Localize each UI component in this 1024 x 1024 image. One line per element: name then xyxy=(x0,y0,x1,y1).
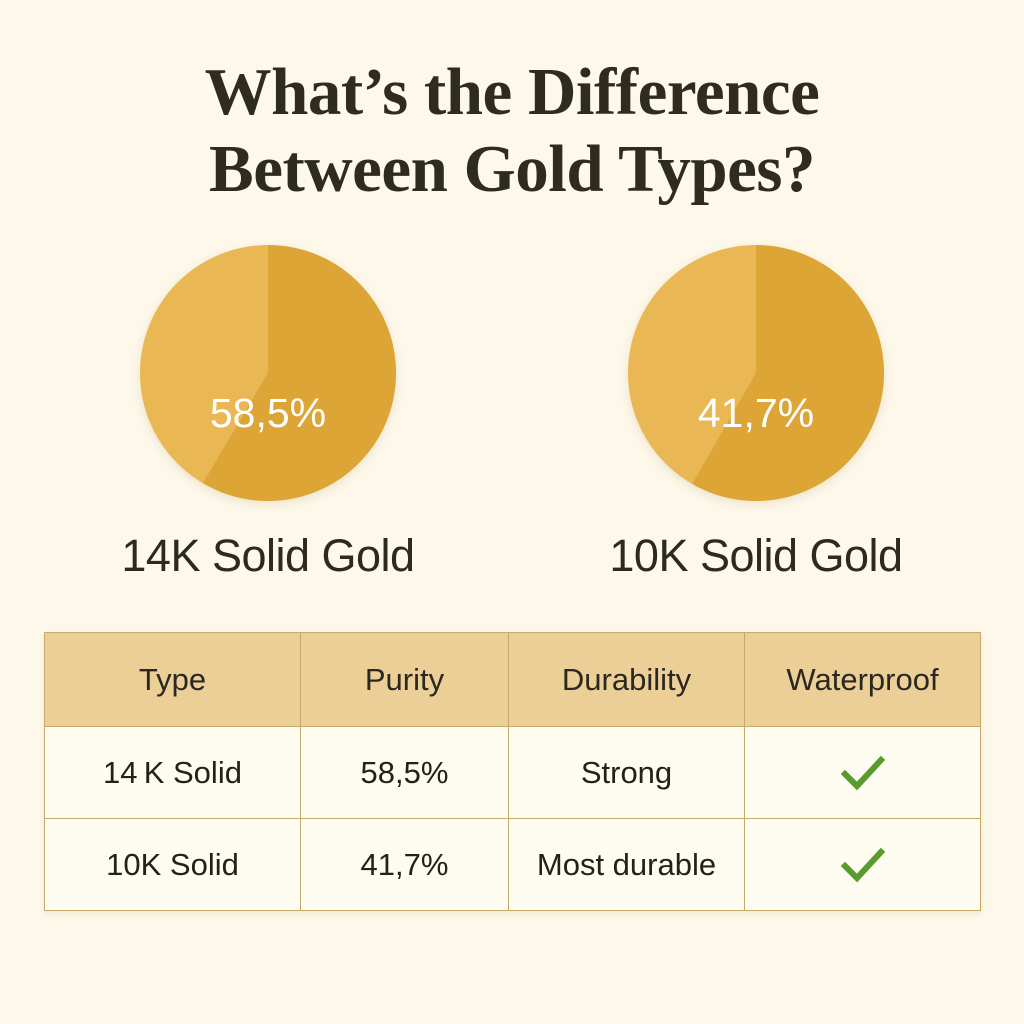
column-header-waterproof: Waterproof xyxy=(745,633,981,727)
page-title: What’s the Difference Between Gold Types… xyxy=(0,0,1024,208)
title-line-1: What’s the Difference xyxy=(0,54,1024,131)
cell-type: 14 K Solid xyxy=(45,727,301,819)
column-header-type: Type xyxy=(45,633,301,727)
comparison-table-wrapper: Type Purity Durability Waterproof 14 K S… xyxy=(44,632,980,911)
table-row: 10K Solid 41,7% Most durable xyxy=(45,819,981,911)
pie-chart-10k: 41,7% xyxy=(625,242,887,504)
chart-cell-10k: 41,7% 10K Solid Gold xyxy=(541,242,971,582)
chart-cell-14k: 58,5% 14K Solid Gold xyxy=(53,242,483,582)
title-line-2: Between Gold Types? xyxy=(0,131,1024,208)
check-icon xyxy=(841,755,885,791)
cell-purity: 41,7% xyxy=(301,819,509,911)
cell-waterproof xyxy=(745,819,981,911)
check-icon xyxy=(841,847,885,883)
chart-caption-10k: 10K Solid Gold xyxy=(609,530,902,582)
cell-waterproof xyxy=(745,727,981,819)
chart-caption-14k: 14K Solid Gold xyxy=(121,530,414,582)
pie-chart-row: 58,5% 14K Solid Gold 41,7% 10K Solid Gol… xyxy=(0,242,1024,582)
infographic-root: What’s the Difference Between Gold Types… xyxy=(0,0,1024,1024)
cell-purity: 58,5% xyxy=(301,727,509,819)
cell-durability: Strong xyxy=(509,727,745,819)
comparison-table: Type Purity Durability Waterproof 14 K S… xyxy=(44,632,981,911)
table-row: 14 K Solid 58,5% Strong xyxy=(45,727,981,819)
cell-durability: Most durable xyxy=(509,819,745,911)
pie-chart-14k: 58,5% xyxy=(137,242,399,504)
column-header-purity: Purity xyxy=(301,633,509,727)
table-header-row: Type Purity Durability Waterproof xyxy=(45,633,981,727)
column-header-durability: Durability xyxy=(509,633,745,727)
cell-type: 10K Solid xyxy=(45,819,301,911)
